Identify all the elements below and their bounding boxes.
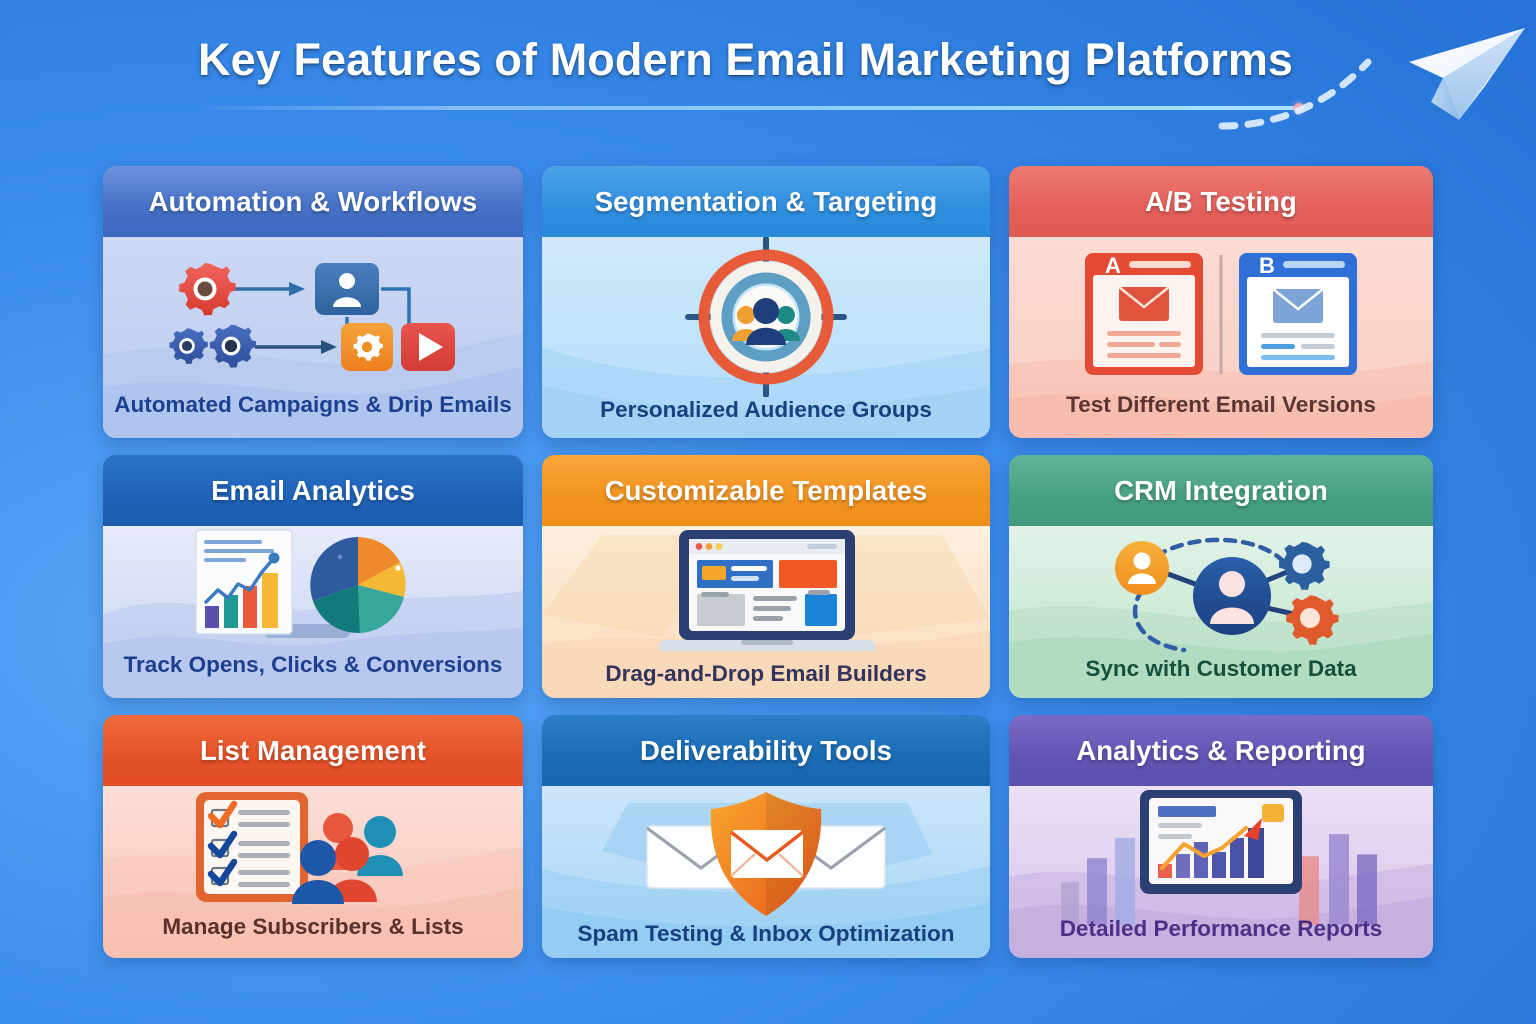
feature-card-analytics-reporting[interactable]: Analytics & Reporting bbox=[1009, 715, 1433, 958]
feature-card-templates[interactable]: Customizable Templates bbox=[542, 455, 990, 698]
page-title: Key Features of Modern Email Marketing P… bbox=[198, 34, 1198, 86]
card-caption: Drag-and-Drop Email Builders bbox=[605, 661, 926, 698]
card-title: Analytics & Reporting bbox=[1076, 735, 1365, 767]
feature-card-crm[interactable]: CRM Integration bbox=[1009, 455, 1433, 698]
card-caption: Detailed Performance Reports bbox=[1060, 916, 1383, 958]
card-body: Sync with Customer Data bbox=[1009, 526, 1433, 698]
card-header: List Management bbox=[103, 715, 523, 786]
card-body: Manage Subscribers & Lists bbox=[103, 786, 523, 958]
card-header: Automation & Workflows bbox=[103, 166, 523, 237]
card-header: Analytics & Reporting bbox=[1009, 715, 1433, 786]
card-caption: Spam Testing & Inbox Optimization bbox=[577, 921, 954, 958]
card-title: Deliverability Tools bbox=[640, 735, 892, 767]
card-caption: Test Different Email Versions bbox=[1066, 392, 1376, 438]
card-body: Automated Campaigns & Drip Emails bbox=[103, 237, 523, 438]
feature-card-email-analytics[interactable]: Email Analytics bbox=[103, 455, 523, 698]
ab-variant-emails-icon: A B bbox=[1009, 237, 1433, 392]
feature-card-deliverability[interactable]: Deliverability Tools bbox=[542, 715, 990, 958]
page-header: Key Features of Modern Email Marketing P… bbox=[0, 34, 1536, 144]
target-audience-icon bbox=[542, 237, 990, 397]
feature-card-segmentation[interactable]: Segmentation & Targeting bbox=[542, 166, 990, 438]
laptop-growth-chart-icon bbox=[1009, 786, 1433, 916]
card-title: Customizable Templates bbox=[605, 475, 928, 507]
card-title: Segmentation & Targeting bbox=[595, 186, 938, 218]
card-title: List Management bbox=[200, 735, 426, 767]
dashed-trail-icon bbox=[1218, 44, 1398, 144]
svg-text:A: A bbox=[1105, 253, 1121, 278]
checklist-people-icon bbox=[103, 786, 523, 914]
card-body: Detailed Performance Reports bbox=[1009, 786, 1433, 958]
card-header: Email Analytics bbox=[103, 455, 523, 526]
feature-card-list-management[interactable]: List Management bbox=[103, 715, 523, 958]
card-body: Spam Testing & Inbox Optimization bbox=[542, 786, 990, 958]
card-title: Automation & Workflows bbox=[149, 186, 478, 218]
card-body: Drag-and-Drop Email Builders bbox=[542, 526, 990, 698]
card-header: A/B Testing bbox=[1009, 166, 1433, 237]
card-header: CRM Integration bbox=[1009, 455, 1433, 526]
laptop-builder-icon bbox=[542, 526, 990, 661]
variant-b-card: B bbox=[1239, 253, 1357, 375]
card-caption: Track Opens, Clicks & Conversions bbox=[124, 652, 503, 698]
bar-pie-chart-icon bbox=[103, 526, 523, 652]
card-title: Email Analytics bbox=[211, 475, 415, 507]
shield-envelope-icon bbox=[542, 786, 990, 921]
paper-plane-icon bbox=[1373, 16, 1536, 141]
card-body: Personalized Audience Groups bbox=[542, 237, 990, 438]
svg-text:B: B bbox=[1259, 253, 1275, 278]
card-title: CRM Integration bbox=[1114, 475, 1328, 507]
card-header: Customizable Templates bbox=[542, 455, 990, 526]
card-header: Segmentation & Targeting bbox=[542, 166, 990, 237]
title-underline bbox=[206, 106, 1301, 110]
feature-card-automation[interactable]: Automation & Workflows bbox=[103, 166, 523, 438]
card-title: A/B Testing bbox=[1145, 186, 1297, 218]
contacts-gears-icon bbox=[1009, 526, 1433, 656]
gears-workflow-icon bbox=[103, 237, 523, 392]
card-caption: Manage Subscribers & Lists bbox=[162, 914, 463, 958]
feature-card-grid: Automation & Workflows bbox=[103, 166, 1433, 958]
card-caption: Automated Campaigns & Drip Emails bbox=[114, 392, 512, 438]
card-caption: Personalized Audience Groups bbox=[600, 397, 932, 438]
feature-card-ab-testing[interactable]: A/B Testing A bbox=[1009, 166, 1433, 438]
card-body: A B bbox=[1009, 237, 1433, 438]
card-header: Deliverability Tools bbox=[542, 715, 990, 786]
card-caption: Sync with Customer Data bbox=[1085, 656, 1356, 698]
variant-a-card: A bbox=[1085, 253, 1203, 375]
card-body: Track Opens, Clicks & Conversions bbox=[103, 526, 523, 698]
